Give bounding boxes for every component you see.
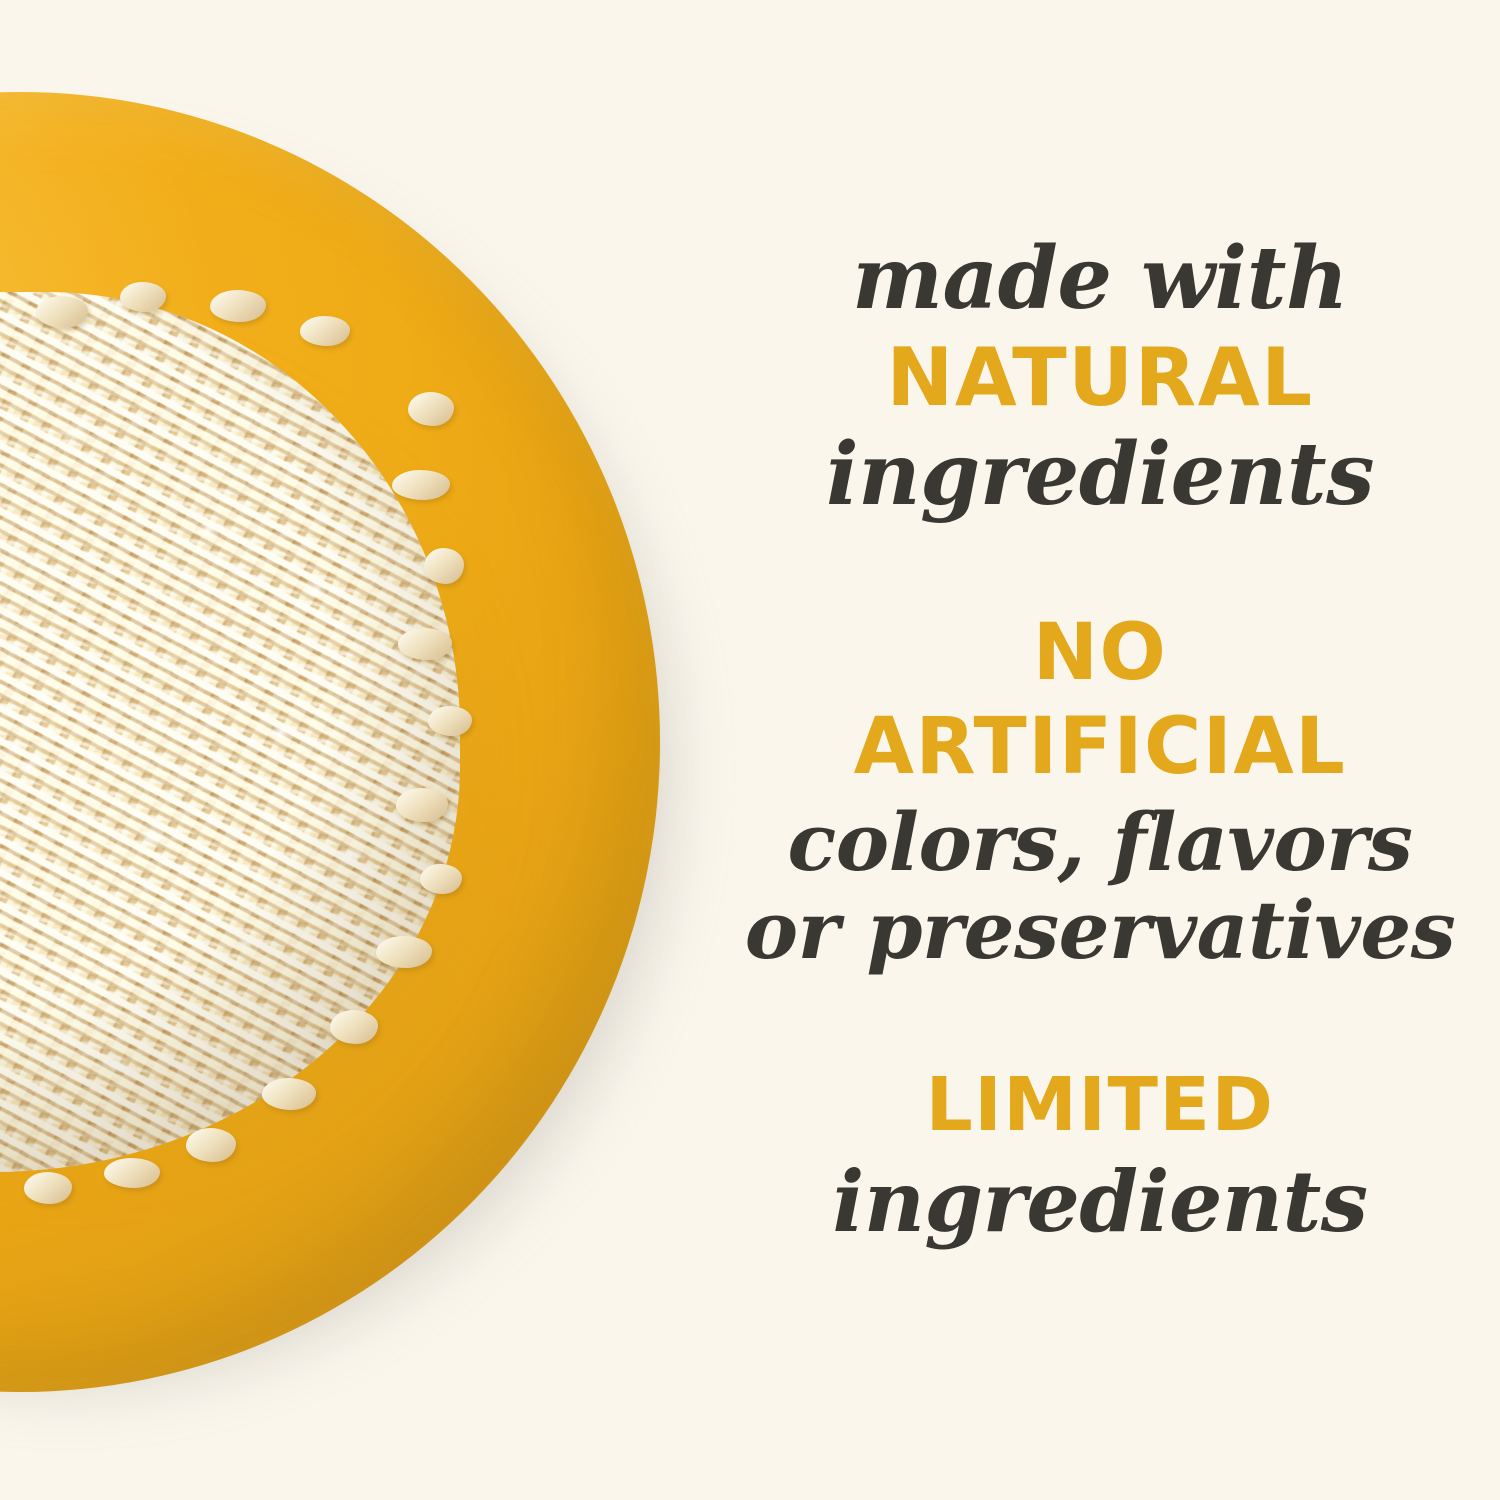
food-photo	[0, 0, 760, 1500]
claim-no-artificial-colors-flavors-preservatives: NO ARTIFICIAL colors, flavors or preserv…	[700, 614, 1500, 970]
food-nib	[300, 316, 350, 346]
claim-line-limited: LIMITED	[700, 1068, 1500, 1142]
claim-line-or-preservatives: or preservatives	[700, 890, 1500, 970]
claim-limited-ingredients: LIMITED ingredients	[700, 1068, 1500, 1244]
claim-made-with-natural-ingredients: made with NATURAL ingredients	[700, 236, 1500, 518]
claims-copy-column: made with NATURAL ingredients NO ARTIFIC…	[700, 0, 1500, 1500]
food-nib	[186, 1128, 236, 1162]
food-nib	[120, 282, 166, 312]
food-nib	[104, 1158, 160, 1188]
food-nib	[392, 470, 450, 500]
food-nib	[424, 548, 464, 584]
food-nib	[210, 290, 266, 322]
claim-line-natural: NATURAL	[700, 338, 1500, 418]
claim-line-no: NO	[700, 614, 1500, 692]
food-nib	[24, 1172, 72, 1204]
claim-line-ingredients: ingredients	[700, 1160, 1500, 1244]
claim-line-made-with: made with	[700, 236, 1500, 322]
shredded-chicken-rice-mound	[0, 292, 460, 1172]
food-nib	[428, 706, 472, 736]
food-nib	[408, 392, 454, 426]
food-nib	[398, 628, 452, 660]
claim-line-ingredients: ingredients	[700, 432, 1500, 518]
food-nib	[262, 1078, 316, 1110]
food-nib	[396, 788, 448, 822]
food-nib	[36, 296, 88, 328]
food-nib	[330, 1010, 378, 1044]
food-nib	[420, 864, 462, 894]
product-claims-panel: made with NATURAL ingredients NO ARTIFIC…	[0, 0, 1500, 1500]
claim-line-colors-flavors: colors, flavors	[700, 802, 1500, 882]
food-nib	[376, 936, 432, 968]
claim-line-artificial: ARTIFICIAL	[700, 708, 1500, 786]
